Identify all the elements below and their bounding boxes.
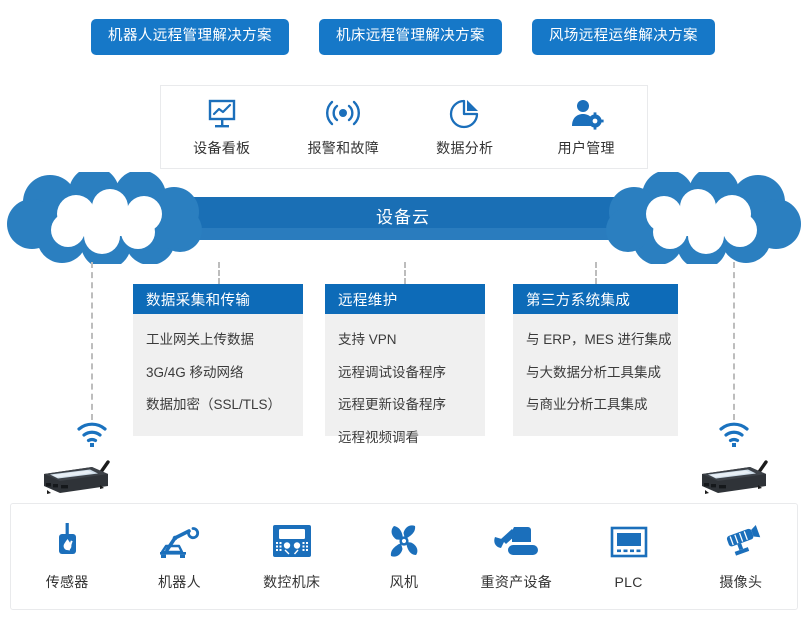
- device-item-cnc[interactable]: 数控机床: [236, 521, 348, 592]
- solution-button-robot[interactable]: 机器人远程管理解决方案: [91, 19, 289, 55]
- sensor-icon: [51, 521, 83, 561]
- feature-label: 报警和故障: [308, 138, 380, 158]
- device-item-fan[interactable]: 风机: [348, 521, 460, 592]
- excavator-icon: [492, 521, 540, 561]
- device-label: 重资产设备: [481, 572, 553, 592]
- feature-item-dashboard[interactable]: 设备看板: [161, 97, 283, 158]
- wifi-icon-right: [718, 422, 750, 448]
- feature-item-alarm[interactable]: 报警和故障: [283, 97, 405, 158]
- device-item-plc[interactable]: PLC: [572, 523, 684, 590]
- panel-title: 远程维护: [325, 284, 485, 314]
- device-label: 风机: [390, 572, 419, 592]
- feature-item-analytics[interactable]: 数据分析: [404, 97, 526, 158]
- panel-body: 支持 VPN 远程调试设备程序 远程更新设备程序 远程视频调看: [325, 314, 485, 470]
- connector-right-gateway: [733, 262, 735, 420]
- feature-label: 设备看板: [193, 138, 250, 158]
- panel-title: 数据采集和传输: [133, 284, 303, 314]
- feature-label: 用户管理: [558, 138, 615, 158]
- cloud-shape-right: [596, 172, 806, 264]
- feature-item-user-management[interactable]: 用户管理: [526, 97, 648, 158]
- device-label: 传感器: [46, 572, 89, 592]
- panel-body: 与 ERP，MES 进行集成 与大数据分析工具集成 与商业分析工具集成: [513, 314, 678, 438]
- robot-arm-icon: [158, 521, 200, 561]
- info-panel-data-acquisition: 数据采集和传输 工业网关上传数据 3G/4G 移动网络 数据加密（SSL/TLS…: [133, 284, 303, 436]
- device-item-camera[interactable]: 摄像头: [685, 521, 797, 592]
- cloud-shape-left: [2, 172, 212, 264]
- info-panel-remote-maintenance: 远程维护 支持 VPN 远程调试设备程序 远程更新设备程序 远程视频调看: [325, 284, 485, 436]
- panel-list-item: 与 ERP，MES 进行集成: [526, 327, 665, 360]
- panel-list-item: 远程视频调看: [338, 425, 472, 458]
- panel-list-item: 支持 VPN: [338, 327, 472, 360]
- panel-list-item: 数据加密（SSL/TLS）: [146, 392, 290, 425]
- connector-panel-2: [404, 262, 406, 284]
- info-panel-third-party-integration: 第三方系统集成 与 ERP，MES 进行集成 与大数据分析工具集成 与商业分析工…: [513, 284, 678, 436]
- device-label: PLC: [614, 574, 642, 590]
- wifi-icon-left: [76, 422, 108, 448]
- connector-left-gateway: [91, 262, 93, 420]
- industrial-gateway-right: [694, 452, 772, 496]
- device-type-card: 传感器 机器人: [10, 503, 798, 610]
- diagram-canvas: 机器人远程管理解决方案 机床远程管理解决方案 风场远程运维解决方案 设备看板: [0, 0, 806, 626]
- cloud-connector-bar-lip: [150, 228, 656, 240]
- panel-list-item: 工业网关上传数据: [146, 327, 290, 360]
- signal-alert-icon: [323, 97, 363, 131]
- plc-screen-icon: [609, 523, 649, 563]
- feature-label: 数据分析: [436, 138, 493, 158]
- user-gear-icon: [568, 97, 604, 131]
- device-item-robot[interactable]: 机器人: [123, 521, 235, 592]
- panel-title: 第三方系统集成: [513, 284, 678, 314]
- device-item-sensor[interactable]: 传感器: [11, 521, 123, 592]
- connector-panel-1: [218, 262, 220, 284]
- device-cloud-band: [0, 172, 806, 264]
- platform-feature-card: 设备看板 报警和故障 数据分析: [160, 85, 648, 169]
- connector-panel-3: [595, 262, 597, 284]
- device-label: 数控机床: [263, 572, 320, 592]
- panel-list-item: 3G/4G 移动网络: [146, 360, 290, 393]
- panel-list-item: 与商业分析工具集成: [526, 392, 665, 425]
- pie-chart-icon: [448, 97, 482, 131]
- panel-list-item: 远程调试设备程序: [338, 360, 472, 393]
- panel-list-item: 与大数据分析工具集成: [526, 360, 665, 393]
- security-camera-icon: [719, 521, 763, 561]
- monitor-dashboard-icon: [205, 97, 239, 131]
- solution-button-row: 机器人远程管理解决方案 机床远程管理解决方案 风场远程运维解决方案: [0, 19, 806, 55]
- solution-button-machine-tool[interactable]: 机床远程管理解决方案: [319, 19, 502, 55]
- panel-body: 工业网关上传数据 3G/4G 移动网络 数据加密（SSL/TLS）: [133, 314, 303, 438]
- cnc-machine-icon: [270, 521, 314, 561]
- industrial-gateway-left: [36, 452, 114, 496]
- device-item-heavy-asset[interactable]: 重资产设备: [460, 521, 572, 592]
- device-label: 摄像头: [719, 572, 762, 592]
- fan-turbine-icon: [384, 521, 424, 561]
- panel-list-item: 远程更新设备程序: [338, 392, 472, 425]
- solution-button-wind-farm[interactable]: 风场远程运维解决方案: [532, 19, 715, 55]
- device-label: 机器人: [158, 572, 201, 592]
